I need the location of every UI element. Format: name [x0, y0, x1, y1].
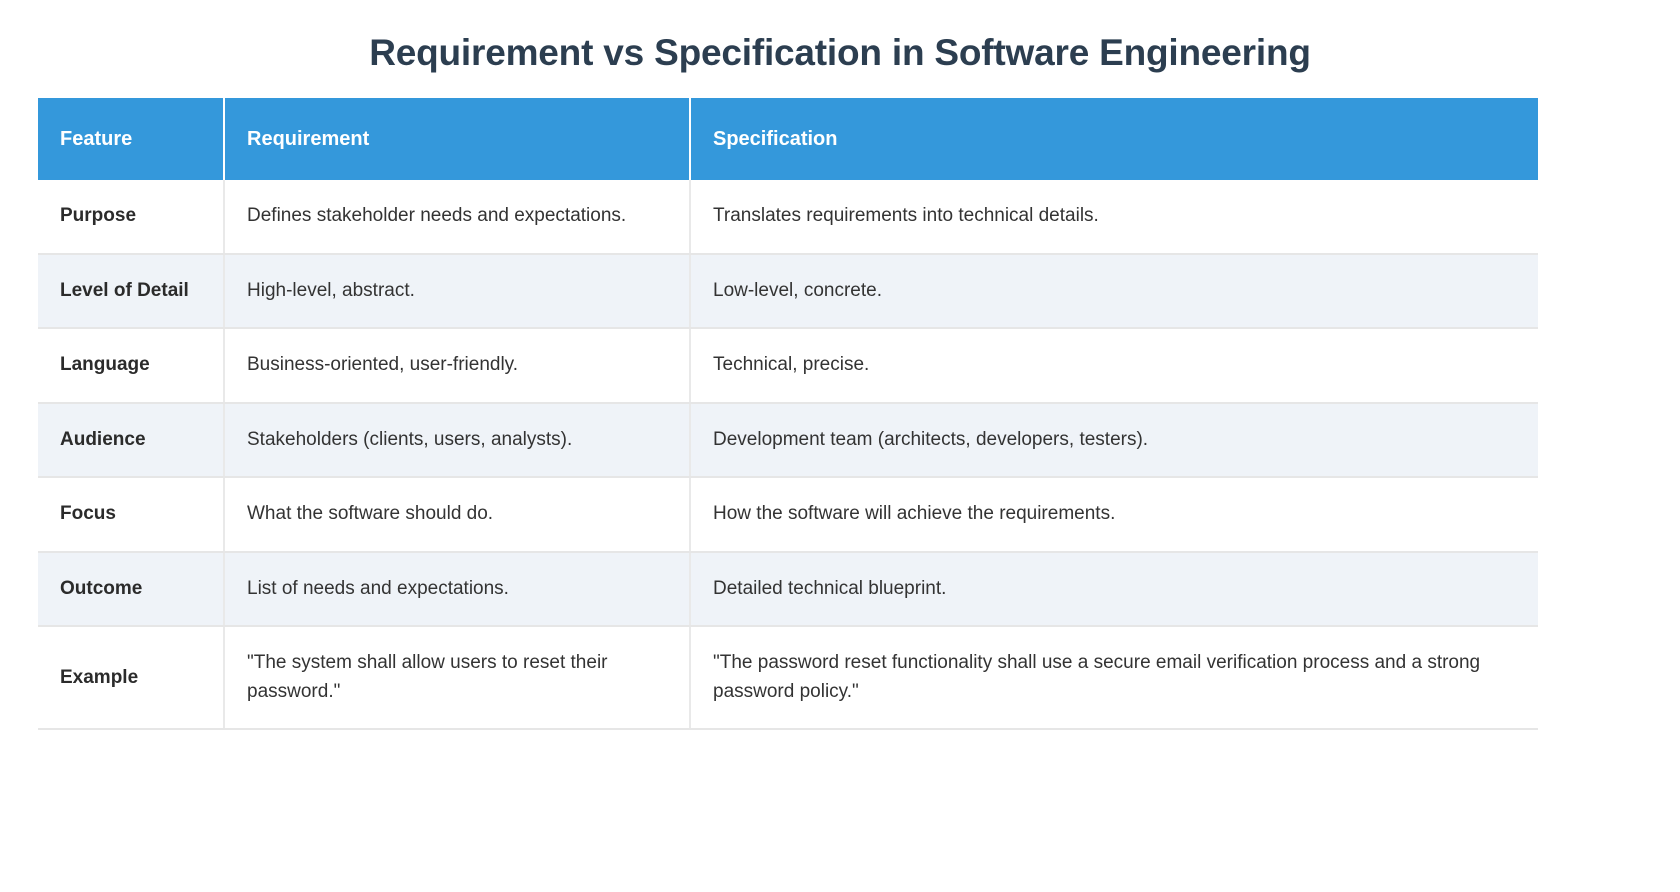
cell-feature: Purpose: [38, 180, 224, 254]
comparison-table: Feature Requirement Specification Purpos…: [38, 98, 1538, 730]
cell-requirement: What the software should do.: [224, 477, 690, 552]
cell-specification: Translates requirements into technical d…: [690, 180, 1538, 254]
cell-feature: Level of Detail: [38, 254, 224, 329]
table-row: Outcome List of needs and expectations. …: [38, 552, 1538, 627]
column-header-requirement: Requirement: [224, 98, 690, 180]
cell-specification: Technical, precise.: [690, 328, 1538, 403]
column-header-feature: Feature: [38, 98, 224, 180]
cell-requirement: "The system shall allow users to reset t…: [224, 626, 690, 729]
cell-specification: How the software will achieve the requir…: [690, 477, 1538, 552]
table-header: Feature Requirement Specification: [38, 98, 1538, 180]
cell-requirement: Stakeholders (clients, users, analysts).: [224, 403, 690, 478]
table-row: Level of Detail High-level, abstract. Lo…: [38, 254, 1538, 329]
cell-requirement: High-level, abstract.: [224, 254, 690, 329]
cell-feature: Audience: [38, 403, 224, 478]
cell-requirement: Business-oriented, user-friendly.: [224, 328, 690, 403]
comparison-table-container: Feature Requirement Specification Purpos…: [38, 98, 1538, 730]
column-header-specification: Specification: [690, 98, 1538, 180]
table-row: Purpose Defines stakeholder needs and ex…: [38, 180, 1538, 254]
page-title: Requirement vs Specification in Software…: [0, 0, 1680, 76]
table-row: Focus What the software should do. How t…: [38, 477, 1538, 552]
cell-feature: Outcome: [38, 552, 224, 627]
cell-specification: "The password reset functionality shall …: [690, 626, 1538, 729]
table-row: Language Business-oriented, user-friendl…: [38, 328, 1538, 403]
cell-requirement: Defines stakeholder needs and expectatio…: [224, 180, 690, 254]
table-row: Example "The system shall allow users to…: [38, 626, 1538, 729]
cell-feature: Example: [38, 626, 224, 729]
table-header-row: Feature Requirement Specification: [38, 98, 1538, 180]
table-row: Audience Stakeholders (clients, users, a…: [38, 403, 1538, 478]
page-root: Requirement vs Specification in Software…: [0, 0, 1680, 892]
cell-requirement: List of needs and expectations.: [224, 552, 690, 627]
cell-specification: Detailed technical blueprint.: [690, 552, 1538, 627]
cell-specification: Low-level, concrete.: [690, 254, 1538, 329]
cell-feature: Focus: [38, 477, 224, 552]
cell-feature: Language: [38, 328, 224, 403]
cell-specification: Development team (architects, developers…: [690, 403, 1538, 478]
table-body: Purpose Defines stakeholder needs and ex…: [38, 180, 1538, 729]
